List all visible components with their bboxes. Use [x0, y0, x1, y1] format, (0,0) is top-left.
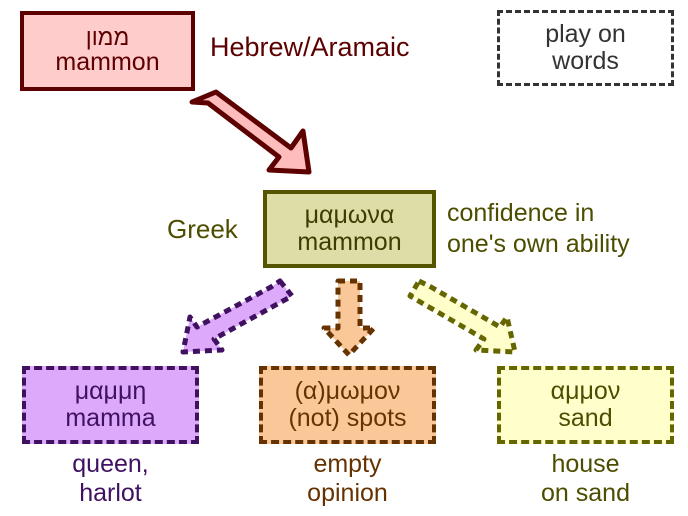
mamma-box: μαμμη mamma: [22, 366, 199, 444]
mamma-caption-line1: queen,: [22, 450, 199, 479]
mamma-caption: queen, harlot: [22, 450, 199, 508]
diagram-canvas: ממון mammon Hebrew/Aramaic play on words…: [0, 0, 688, 516]
confidence-note-line2: one's own ability: [447, 230, 630, 258]
greek-label: Greek: [167, 214, 238, 245]
spots-caption-line2: opinion: [259, 479, 436, 508]
play-on-words-box: play on words: [497, 10, 674, 86]
spots-caption-line1: empty: [259, 450, 436, 479]
hebrew-aramaic-label: Hebrew/Aramaic: [210, 32, 410, 63]
spots-caption: empty opinion: [259, 450, 436, 508]
mamma-transliteration: mamma: [65, 406, 155, 432]
hebrew-mammon-script: ממון: [86, 26, 130, 49]
greek-to-sand-arrow: [410, 281, 515, 352]
spots-box: (α)μωμον (not) spots: [259, 366, 436, 444]
confidence-note-line1: confidence in: [447, 199, 594, 227]
play-on-words-line2: words: [552, 49, 619, 75]
hebrew-to-greek-arrow: [192, 92, 309, 172]
confidence-note: confidence in one's own ability: [447, 198, 630, 259]
greek-to-mamma-arrow: [183, 281, 292, 352]
sand-caption-line1: house: [497, 450, 674, 479]
hebrew-mammon-box: ממון mammon: [20, 11, 195, 91]
spots-translation: (not) spots: [288, 406, 406, 432]
spots-script: (α)μωμον: [295, 379, 401, 405]
greek-mammon-script: μαμωνα: [305, 203, 395, 229]
mamma-script: μαμμη: [75, 379, 147, 405]
sand-translation: sand: [558, 406, 612, 432]
mamma-caption-line2: harlot: [22, 479, 199, 508]
sand-caption: house on sand: [497, 450, 674, 508]
hebrew-mammon-transliteration: mammon: [55, 50, 159, 76]
sand-box: αμμον sand: [497, 366, 674, 444]
greek-mammon-box: μαμωνα mammon: [263, 190, 436, 268]
greek-to-spots-arrow: [324, 281, 374, 355]
sand-caption-line2: on sand: [497, 479, 674, 508]
greek-mammon-transliteration: mammon: [297, 230, 401, 256]
play-on-words-line1: play on: [545, 22, 626, 48]
sand-script: αμμον: [551, 379, 621, 405]
